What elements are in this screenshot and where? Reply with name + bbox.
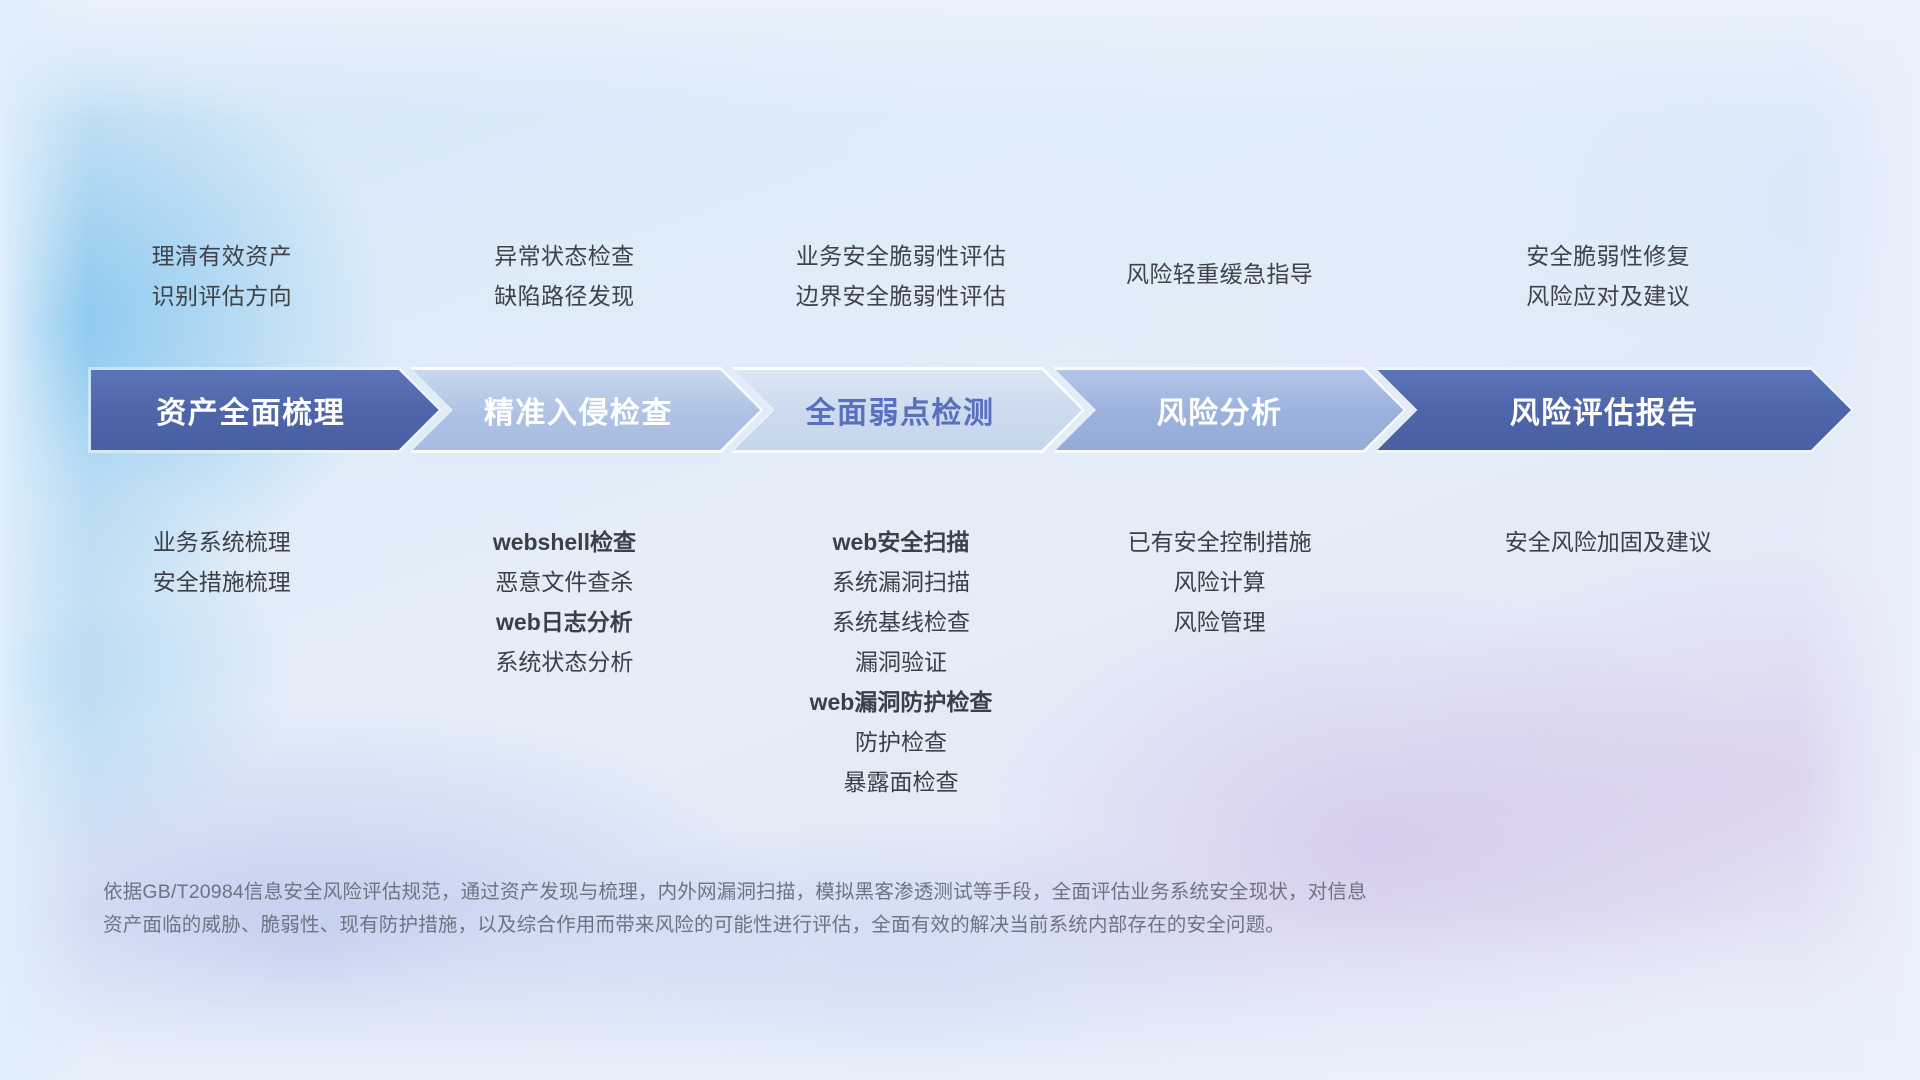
chevron-label-intrusion-check: 精准入侵检查 [484, 388, 673, 432]
footnote-line-1: 依据GB/T20984信息安全风险评估规范，通过资产发现与梳理，内外网漏洞扫描，… [103, 876, 1663, 909]
top-caption-item: 风险应对及建议 [1388, 276, 1828, 316]
chevron-stage-3[interactable]: 全面弱点检测 [731, 367, 1085, 453]
footnote-line-2: 资产面临的威胁、脆弱性、现有防护措施，以及综合作用而带来风险的可能性进行评估，全… [103, 909, 1663, 942]
bottom-caption-item: 防护检查 [681, 722, 1121, 762]
chevron-label-asset-inventory: 资产全面梳理 [156, 388, 345, 432]
bottom-caption-item: 暴露面检查 [681, 762, 1121, 802]
top-caption-item: 风险轻重缓急指导 [1000, 254, 1440, 294]
chevron-stage-2[interactable]: 精准入侵检查 [410, 367, 764, 453]
chevron-stage-5[interactable]: 风险评估报告 [1374, 367, 1854, 453]
chevron-label-risk-analysis: 风险分析 [1157, 388, 1283, 432]
bottom-caption-item: 漏洞验证 [681, 642, 1121, 682]
chevron-label-risk-report: 风险评估报告 [1510, 388, 1699, 432]
chevron-stage-1[interactable]: 资产全面梳理 [88, 367, 442, 453]
bottom-caption-risk-analysis: 已有安全控制措施风险计算风险管理 [1000, 522, 1440, 642]
bottom-caption-risk-report: 安全风险加固及建议 [1388, 522, 1828, 562]
top-caption-risk-analysis: 风险轻重缓急指导 [1000, 254, 1440, 294]
bottom-caption-item: 安全风险加固及建议 [1388, 522, 1828, 562]
bottom-caption-item: 风险计算 [1000, 562, 1440, 602]
footnote-paragraph: 依据GB/T20984信息安全风险评估规范，通过资产发现与梳理，内外网漏洞扫描，… [103, 876, 1663, 942]
chevron-stage-4[interactable]: 风险分析 [1053, 367, 1407, 453]
chevron-band: 资产全面梳理精准入侵检查全面弱点检测风险分析风险评估报告 [88, 367, 1854, 453]
bottom-caption-item: 风险管理 [1000, 602, 1440, 642]
bottom-caption-item: web漏洞防护检查 [681, 682, 1121, 722]
process-diagram: 理清有效资产识别评估方向异常状态检查缺陷路径发现业务安全脆弱性评估边界安全脆弱性… [0, 0, 1920, 1080]
top-caption-item: 安全脆弱性修复 [1388, 236, 1828, 276]
bottom-caption-item: 已有安全控制措施 [1000, 522, 1440, 562]
chevron-label-weakness-detection: 全面弱点检测 [805, 388, 994, 432]
top-caption-risk-report: 安全脆弱性修复风险应对及建议 [1388, 236, 1828, 316]
